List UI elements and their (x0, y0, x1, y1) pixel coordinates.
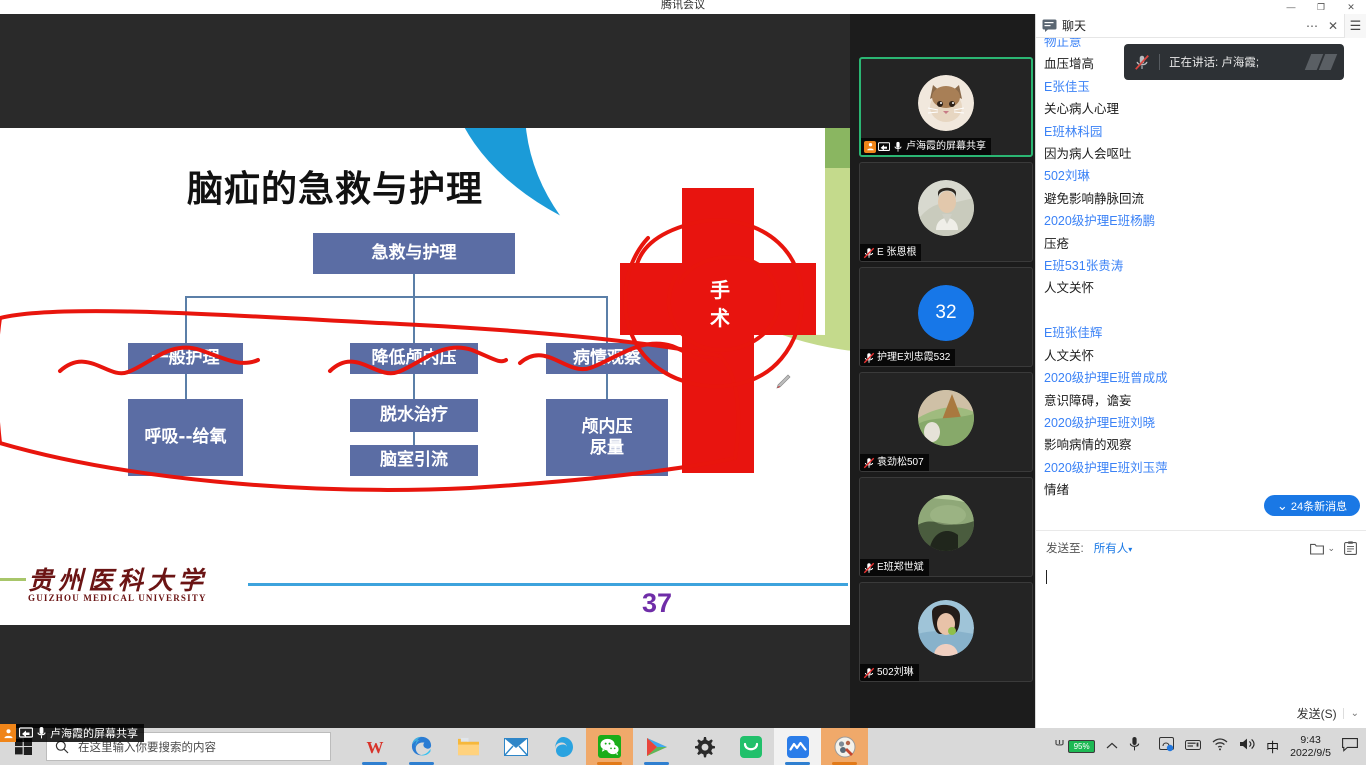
host-badge-icon (0, 724, 16, 742)
microsoft-edge-icon (410, 735, 433, 758)
participant-namebar: 卢海霞的屏幕共享 (861, 138, 991, 155)
window-controls: — ❐ ✕ (1276, 0, 1366, 14)
wps-cloud-icon (740, 736, 762, 758)
flow-connector-horizontal (185, 296, 608, 298)
message-text: 压疮 (1044, 233, 1359, 255)
volume-icon[interactable] (1239, 737, 1255, 756)
message-text: 人文关怀 (1044, 277, 1359, 299)
taskbar-apps: W (351, 728, 868, 765)
chat-close-button[interactable]: ✕ (1328, 19, 1338, 33)
window-title: 腾讯会议 (0, 0, 1366, 12)
flow-box-root: 急救与护理 (313, 233, 515, 274)
avatar (918, 180, 974, 236)
battery-charging-icon (1053, 739, 1066, 755)
message-blank (1044, 300, 1359, 322)
chat-header: 聊天 ⋯ ✕ ☰ (1036, 14, 1366, 38)
mic-icon (892, 141, 904, 153)
participant-namebar: E班郑世斌 (860, 559, 929, 576)
message-sender: 2020级护理E班杨鹏 (1044, 210, 1359, 232)
windows-taskbar: 在这里输入你要搜索的内容 W (0, 728, 1366, 765)
flow-connector-right-down (606, 296, 608, 343)
active-speaker-label: 正在讲话: 卢海霞; (1159, 54, 1259, 70)
announcement-icon (1344, 541, 1357, 555)
participant-tile[interactable]: E班郑世斌 (859, 477, 1033, 577)
flow-connector-observation-down (606, 374, 608, 399)
message-sender: E班张佳辉 (1044, 322, 1359, 344)
participant-namebar: 502刘琳 (860, 664, 919, 681)
battery-percent: 95% (1068, 740, 1095, 753)
flow-box-ventricular-drainage: 脑室引流 (350, 445, 478, 476)
avatar-initial: 32 (918, 285, 974, 341)
participant-name: E班郑世斌 (877, 561, 924, 574)
taskbar-app-microsoft-edge[interactable] (398, 728, 445, 765)
flow-connector-reduce-icp-down (413, 374, 415, 399)
participant-namebar: E 张恩根 (860, 244, 921, 261)
send-row: 发送(S) ⌄ (1036, 698, 1366, 728)
participant-tile[interactable]: 32 护理E刘忠霞532 (859, 267, 1033, 367)
avatar (918, 600, 974, 656)
pen-cursor-icon (775, 374, 791, 392)
send-to-label: 发送至: (1046, 540, 1084, 556)
participant-namebar: 袁劲松507 (860, 454, 929, 471)
send-to-value: 所有人 (1094, 543, 1129, 555)
keyboard-icon[interactable] (1185, 738, 1201, 756)
message-text: 人文关怀 (1044, 345, 1359, 367)
caret-down-icon: ▾ (1128, 545, 1132, 554)
svg-text:W: W (366, 738, 383, 757)
flow-connector-general-care-down (185, 374, 187, 399)
media-player-icon (645, 736, 669, 758)
chat-message-list[interactable]: 物正意 血压增高 E张佳玉 关心病人心理 E班林科园 因为病人会呕吐 502刘琳… (1036, 38, 1366, 507)
file-folder-icon (1310, 542, 1324, 555)
chat-divider (1036, 530, 1366, 531)
slide-page-number: 37 (642, 588, 672, 619)
participant-name: 卢海霞的屏幕共享 (906, 140, 986, 153)
audio-wave-icon (1308, 54, 1334, 70)
announcement-button[interactable] (1344, 541, 1357, 555)
flow-box-observation: 病情观察 (546, 343, 668, 374)
mic-icon (36, 726, 47, 740)
avatar (918, 390, 974, 446)
flow-box-dehydration: 脱水治疗 (350, 399, 478, 432)
send-to-row: 发送至: 所有人▾ ⌄ (1036, 534, 1366, 562)
screen-root: 腾讯会议 — ❐ ✕ 脑疝的急救与护理 手 术 急救与护理 (0, 0, 1366, 765)
screen-share-indicator-bar: 卢海霞的屏幕共享 (0, 724, 144, 742)
message-sender: 502刘琳 (1044, 165, 1359, 187)
mic-muted-icon (863, 562, 875, 574)
participant-tile[interactable]: 502刘琳 (859, 582, 1033, 682)
mic-muted-icon (1134, 54, 1150, 71)
active-speaker-banner: 正在讲话: 卢海霞; (1124, 44, 1344, 80)
taskbar-app-mail[interactable] (492, 728, 539, 765)
message-sender: E班林科园 (1044, 121, 1359, 143)
maximize-button[interactable]: ❐ (1306, 0, 1336, 14)
avatar: 32 (918, 285, 974, 341)
screen-share-icon (19, 727, 33, 740)
avatar (918, 495, 974, 551)
flow-connector-dehydration-down (413, 432, 415, 445)
cross-label-line1: 手 (620, 276, 820, 304)
taskbar-app-file-explorer[interactable] (445, 728, 492, 765)
message-sender: E班531张贵涛 (1044, 255, 1359, 277)
clock-time: 9:43 (1290, 734, 1331, 747)
participant-name: 502刘琳 (877, 666, 914, 679)
ime-indicator[interactable]: 中 (1266, 737, 1279, 756)
battery-status[interactable]: 95% (1053, 739, 1095, 755)
flow-box-breathing-oxygen: 呼吸--给氧 (128, 399, 243, 476)
new-messages-label: 24条新消息 (1291, 498, 1347, 514)
university-name-cn: 贵州医科大学 (28, 561, 208, 597)
mic-muted-icon (863, 667, 875, 679)
chevron-up-icon[interactable] (1106, 738, 1118, 756)
footer-rule-blue (248, 583, 848, 586)
text-caret (1046, 570, 1047, 584)
shared-screen-area: 脑疝的急救与护理 手 术 急救与护理 一般护理 呼吸--给氧 降低颅内压 (0, 14, 850, 728)
presentation-slide: 脑疝的急救与护理 手 术 急救与护理 一般护理 呼吸--给氧 降低颅内压 (0, 128, 850, 625)
chat-composer[interactable] (1036, 562, 1366, 714)
mic-muted-icon (863, 457, 875, 469)
close-button[interactable]: ✕ (1336, 0, 1366, 14)
gear-icon (693, 736, 715, 758)
tencent-meeting-icon (787, 736, 809, 758)
chat-menu-button[interactable]: ☰ (1344, 14, 1366, 38)
message-text: 影响病情的观察 (1044, 434, 1359, 456)
wifi-icon[interactable] (1212, 738, 1228, 756)
participant-namebar: 护理E刘忠霞532 (860, 349, 955, 366)
send-button[interactable]: 发送(S) (1297, 705, 1337, 722)
cross-label-line2: 术 (620, 304, 820, 332)
participant-name: E 张恩根 (877, 246, 916, 259)
mic-muted-icon (863, 247, 875, 259)
flow-box-icp-urine-label: 颅内压 尿量 (582, 417, 633, 459)
participant-tile[interactable]: 袁劲松507 (859, 372, 1033, 472)
chat-icon (1042, 19, 1057, 32)
wps-office-icon: W (364, 736, 386, 758)
chat-more-button[interactable]: ⋯ (1306, 19, 1318, 33)
flow-box-general-care: 一般护理 (128, 343, 243, 374)
taskbar-app-tencent-meeting[interactable] (774, 728, 821, 765)
file-folder-button[interactable]: ⌄ (1310, 542, 1335, 555)
taskbar-app-wps-cloud[interactable] (727, 728, 774, 765)
footer-rule-green (0, 578, 26, 581)
message-sender: 2020级护理E班刘晓 (1044, 412, 1359, 434)
avatar (918, 75, 974, 131)
chat-title: 聊天 (1062, 17, 1086, 34)
flow-box-reduce-icp: 降低颅内压 (350, 343, 478, 374)
send-options-caret-icon[interactable]: ⌄ (1343, 708, 1359, 719)
message-text: 避免影响静脉回流 (1044, 188, 1359, 210)
window-titlebar: 腾讯会议 — ❐ ✕ (0, 0, 1366, 14)
university-name-en: GUIZHOU MEDICAL UNIVERSITY (28, 593, 207, 603)
taskbar-app-settings[interactable] (680, 728, 727, 765)
mail-icon (504, 738, 528, 756)
notification-icon[interactable] (1342, 737, 1358, 757)
360-browser-icon (552, 736, 574, 758)
participant-tile[interactable]: 卢海霞的屏幕共享 (859, 57, 1033, 157)
taskbar-app-screen-annotation[interactable] (821, 728, 868, 765)
message-text: 关心病人心理 (1044, 98, 1359, 120)
clock-date: 2022/9/5 (1290, 747, 1331, 760)
wechat-icon (598, 735, 621, 758)
message-text: 意识障碍，谵妄 (1044, 390, 1359, 412)
flow-connector-left-down (185, 296, 187, 343)
taskbar-app-wps-office[interactable]: W (351, 728, 398, 765)
system-tray: 95% (1053, 728, 1366, 765)
flow-connector-mid-down (413, 296, 415, 343)
send-to-dropdown[interactable]: 所有人▾ (1094, 540, 1133, 556)
minimize-button[interactable]: — (1276, 0, 1306, 14)
host-badge-icon (864, 141, 876, 153)
file-explorer-icon (457, 736, 480, 757)
message-sender: 2020级护理E班曾成成 (1044, 367, 1359, 389)
participant-strip[interactable]: 卢海霞的屏幕共享 (850, 14, 1035, 728)
message-sender: 2020级护理E班刘玉萍 (1044, 457, 1359, 479)
taskbar-app-wechat[interactable] (586, 728, 633, 765)
taskbar-clock[interactable]: 9:43 2022/9/5 (1290, 734, 1331, 760)
taskbar-app-360-browser[interactable] (539, 728, 586, 765)
mic-muted-icon (863, 352, 875, 364)
participant-name: 护理E刘忠霞532 (877, 351, 950, 364)
chat-panel: 聊天 ⋯ ✕ ☰ 物正意 血压增高 E张佳玉 关心病人心理 E班林科园 因为病人… (1035, 14, 1366, 728)
share-bar-label: 卢海霞的屏幕共享 (50, 725, 138, 741)
tray-app-icon[interactable] (1159, 737, 1174, 757)
participant-name: 袁劲松507 (877, 456, 924, 469)
message-text: 因为病人会呕吐 (1044, 143, 1359, 165)
taskbar-app-media-player[interactable] (633, 728, 680, 765)
slide-footer: 贵州医科大学 GUIZHOU MEDICAL UNIVERSITY 37 (0, 555, 850, 625)
mic-icon[interactable] (1129, 736, 1140, 757)
screen-annotation-icon (834, 736, 856, 758)
flow-box-icp-urine: 颅内压 尿量 (546, 399, 668, 476)
new-messages-button[interactable]: ⌄ 24条新消息 (1264, 495, 1360, 516)
participant-tile[interactable]: E 张恩根 (859, 162, 1033, 262)
screen-share-icon (878, 141, 890, 153)
cross-label: 手 术 (620, 276, 820, 332)
file-caret-icon: ⌄ (1327, 543, 1335, 554)
